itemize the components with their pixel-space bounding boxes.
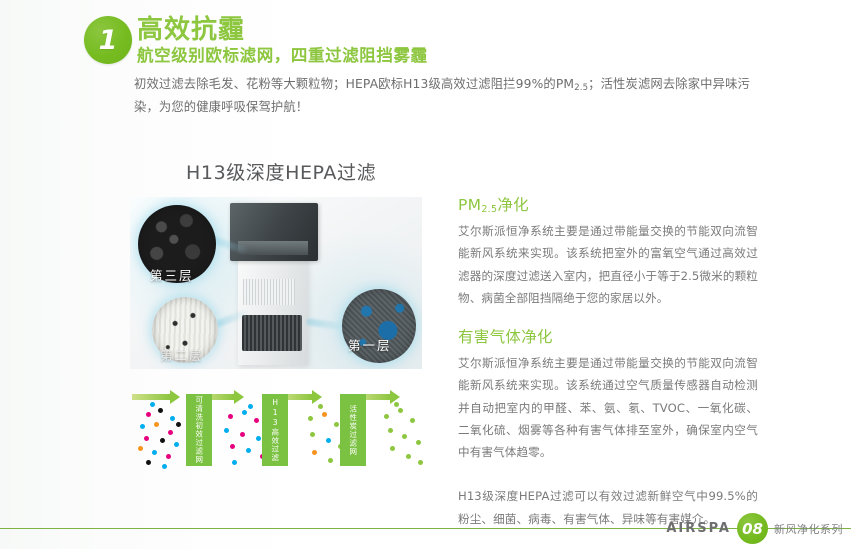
- intro-subscript: 2.5: [574, 83, 588, 93]
- intro-text-part1: 初效过滤去除毛发、花粉等大颗粒物；HEPA欧标H13级高效过滤阻拦99%的PM: [134, 77, 574, 91]
- product-photo: 第三层 第二层 第一层: [130, 197, 422, 369]
- right-column: PM2.5净化 艾尔斯派恒净系统主要是通过带能量交换的节能双向流智能新风系统来实…: [458, 193, 758, 530]
- footer-brand: AIRSPA: [666, 521, 731, 536]
- unit-fins-graphic: [243, 279, 295, 305]
- filter-stage-3-label: 活性炭过滤网: [348, 405, 357, 456]
- label-layer-three: 第三层: [150, 265, 194, 284]
- section-title: H13级深度HEPA过滤: [186, 158, 376, 185]
- section-number-badge: 1: [84, 16, 132, 64]
- footer: AIRSPA 08 新风净化系列: [666, 513, 843, 544]
- filter-stage-2: H13高效过滤: [262, 394, 288, 466]
- filter-stage-1: 可清洗初效过滤网: [186, 394, 212, 466]
- footer-series-label: 新风净化系列: [774, 521, 843, 537]
- pm25-heading-tail: 净化: [497, 196, 529, 214]
- unit-fan-graphic: [242, 315, 302, 351]
- filter-stage-3: 活性炭过滤网: [340, 394, 366, 466]
- page-subtitle: 航空级别欧标滤网，四重过滤阻挡雾霾: [137, 46, 428, 66]
- footer-page-badge: 08: [737, 513, 768, 544]
- pm25-body: 艾尔斯派恒净系统主要是通过带能量交换的节能双向流智能新风系统来实现。该系统把室外…: [458, 220, 758, 309]
- label-layer-one: 第一层: [348, 335, 392, 354]
- filter-stage-1-label: 可清洗初效过滤网: [194, 396, 203, 464]
- pm25-heading: PM2.5净化: [458, 193, 758, 215]
- label-layer-two: 第二层: [160, 345, 204, 364]
- page-root: 1 高效抗霾 航空级别欧标滤网，四重过滤阻挡雾霾 初效过滤去除毛发、花粉等大颗粒…: [0, 0, 851, 549]
- filter-flow-diagram: 可清洗初效过滤网 H13高效过滤: [132, 388, 432, 468]
- page-title: 高效抗霾: [137, 16, 245, 45]
- harmful-gas-body: 艾尔斯派恒净系统主要是通过带能量交换的节能双向流智能新风系统来实现。该系统通过空…: [458, 352, 758, 463]
- pm25-heading-subscript: 2.5: [481, 204, 497, 215]
- harmful-gas-heading: 有害气体净化: [458, 325, 758, 347]
- pm25-heading-main: PM: [458, 196, 481, 214]
- intro-paragraph: 初效过滤去除毛发、花粉等大颗粒物；HEPA欧标H13级高效过滤阻拦99%的PM2…: [134, 73, 759, 118]
- filter-stage-2-label: H13高效过滤: [270, 398, 279, 462]
- flow-arrow-1: [132, 390, 180, 403]
